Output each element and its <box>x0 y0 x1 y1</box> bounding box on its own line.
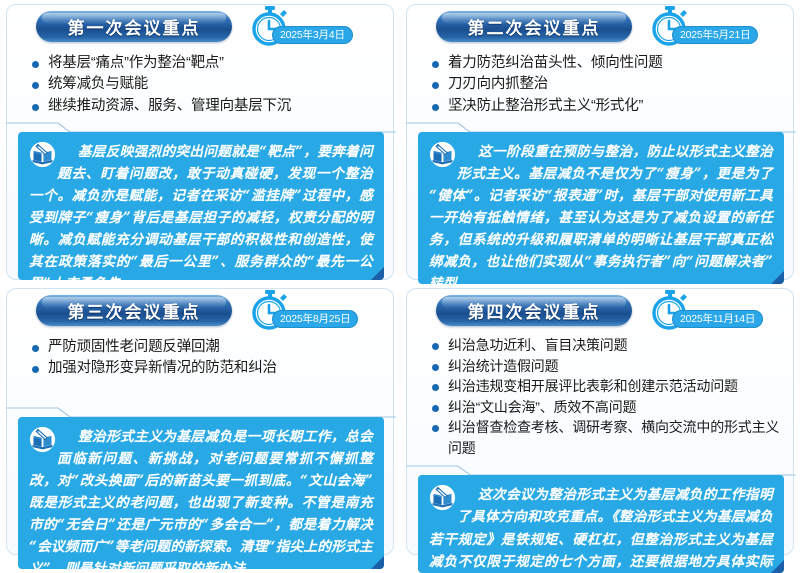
panel-header: 第四次会议重点 2025年11月14日 <box>414 290 786 331</box>
meeting-date: 2025年8月25日 <box>272 310 358 328</box>
meeting-date: 2025年3月4日 <box>272 26 353 44</box>
panel-meeting-1: 第一次会议重点 2025年3月4日 将基层“痛点”作为 <box>0 0 400 284</box>
panel-title: 第二次会议重点 <box>468 14 601 39</box>
list-item: 纠治急功近利、盲目决策问题 <box>432 335 786 356</box>
corner-fold <box>771 271 784 284</box>
key-points-list: 着力防范纠治苗头性、倾向性问题 刀刃向内抓整治 坚决防止整治形式主义“形式化” <box>414 53 786 117</box>
open-book-pen-icon <box>429 141 456 168</box>
commentary-body: 基层反映强烈的突出问题就是“靶点”，要奔着问题去、盯着问题改，敢于动真碰硬，发现… <box>29 144 373 280</box>
panel-title-pill: 第四次会议重点 <box>436 295 632 326</box>
list-item: 着力防范纠治苗头性、倾向性问题 <box>432 53 786 74</box>
list-item: 坚决防止整治形式主义“形式化” <box>432 96 786 117</box>
commentary-body: 这一阶段重在预防与整治，防止以形式主义整治形式主义。基层减负不是仅为了“瘦身”，… <box>429 144 773 284</box>
panel-header: 第二次会议重点 2025年5月21日 <box>414 6 786 47</box>
panel-meeting-4: 第四次会议重点 2025年11月14日 纠治急功近利、 <box>400 284 800 559</box>
list-item: 纠治督查检查考核、调研考察、横向交流中的形式主义问题 <box>432 417 786 458</box>
commentary-box: 基层反映强烈的突出问题就是“靶点”，要奔着问题去、盯着问题改，敢于动真碰硬，发现… <box>18 132 384 280</box>
corner-fold <box>771 560 784 573</box>
meeting-panels-grid: 第一次会议重点 2025年3月4日 将基层“痛点”作为 <box>0 0 800 559</box>
panel-title: 第三次会议重点 <box>68 298 201 323</box>
date-stamp: 2025年8月25日 <box>246 290 378 332</box>
commentary-box: 整治形式主义为基层减负是一项长期工作，总会面临新问题、新挑战，对老问题要常抓不懈… <box>18 417 384 569</box>
panel-header: 第三次会议重点 2025年8月25日 <box>14 290 386 331</box>
date-stamp: 2025年11月14日 <box>646 290 778 332</box>
panel-title-pill: 第一次会议重点 <box>36 11 232 42</box>
meeting-date: 2025年5月21日 <box>672 26 758 44</box>
key-points-list: 将基层“痛点”作为整治“靶点” 统筹减负与赋能 继续推动资源、服务、管理向基层下… <box>14 53 386 117</box>
open-book-pen-icon <box>29 426 56 453</box>
commentary-body: 这次会议为整治形式主义为基层减负的工作指明了具体方向和攻克重点。《整治形式主义为… <box>429 487 773 573</box>
commentary-box: 这一阶段重在预防与整治，防止以形式主义整治形式主义。基层减负不是仅为了“瘦身”，… <box>418 132 784 284</box>
section-divider <box>414 464 786 475</box>
open-book-pen-icon <box>429 484 456 511</box>
divider-line-with-notch <box>6 406 406 418</box>
list-item: 继续推动资源、服务、管理向基层下沉 <box>32 96 386 117</box>
panel-meeting-3: 第三次会议重点 2025年8月25日 严防顽固性老问题 <box>0 284 400 559</box>
key-points-list: 纠治急功近利、盲目决策问题 纠治统计造假问题 纠治违规变相开展评比表彰和创建示范… <box>414 335 786 458</box>
section-divider <box>14 406 386 417</box>
list-item: 纠治违规变相开展评比表彰和创建示范活动问题 <box>432 376 786 397</box>
section-divider <box>414 121 786 132</box>
open-book-pen-icon <box>29 141 56 168</box>
list-item: 加强对隐形变异新情况的防范和纠治 <box>32 358 386 379</box>
panel-title-pill: 第三次会议重点 <box>36 295 232 326</box>
list-item: 纠治“文山会海”、质效不高问题 <box>432 397 786 418</box>
panel-title-pill: 第二次会议重点 <box>436 11 632 42</box>
panel-header: 第一次会议重点 2025年3月4日 <box>14 6 386 47</box>
corner-fold <box>371 267 384 280</box>
commentary-text: 基层反映强烈的突出问题就是“靶点”，要奔着问题去、盯着问题改，敢于动真碰硬，发现… <box>29 141 373 280</box>
section-divider <box>14 121 386 132</box>
list-item: 严防顽固性老问题反弹回潮 <box>32 337 386 358</box>
commentary-body: 整治形式主义为基层减负是一项长期工作，总会面临新问题、新挑战，对老问题要常抓不懈… <box>29 429 373 569</box>
corner-fold <box>371 556 384 569</box>
date-stamp: 2025年3月4日 <box>246 6 378 48</box>
commentary-text: 这次会议为整治形式主义为基层减负的工作指明了具体方向和攻克重点。《整治形式主义为… <box>429 484 773 573</box>
list-item: 刀刃向内抓整治 <box>432 74 786 95</box>
commentary-text: 整治形式主义为基层减负是一项长期工作，总会面临新问题、新挑战，对老问题要常抓不懈… <box>29 426 373 569</box>
panel-title: 第一次会议重点 <box>68 14 201 39</box>
list-item: 将基层“痛点”作为整治“靶点” <box>32 53 386 74</box>
date-stamp: 2025年5月21日 <box>646 6 778 48</box>
commentary-box: 这次会议为整治形式主义为基层减负的工作指明了具体方向和攻克重点。《整治形式主义为… <box>418 475 784 573</box>
meeting-date: 2025年11月14日 <box>672 310 763 328</box>
list-item: 纠治统计造假问题 <box>432 356 786 377</box>
panel-title: 第四次会议重点 <box>468 298 601 323</box>
commentary-text: 这一阶段重在预防与整治，防止以形式主义整治形式主义。基层减负不是仅为了“瘦身”，… <box>429 141 773 284</box>
list-item: 统筹减负与赋能 <box>32 74 386 95</box>
key-points-list: 严防顽固性老问题反弹回潮 加强对隐形变异新情况的防范和纠治 <box>14 337 386 380</box>
panel-meeting-2: 第二次会议重点 2025年5月21日 着力防范纠治苗头 <box>400 0 800 284</box>
